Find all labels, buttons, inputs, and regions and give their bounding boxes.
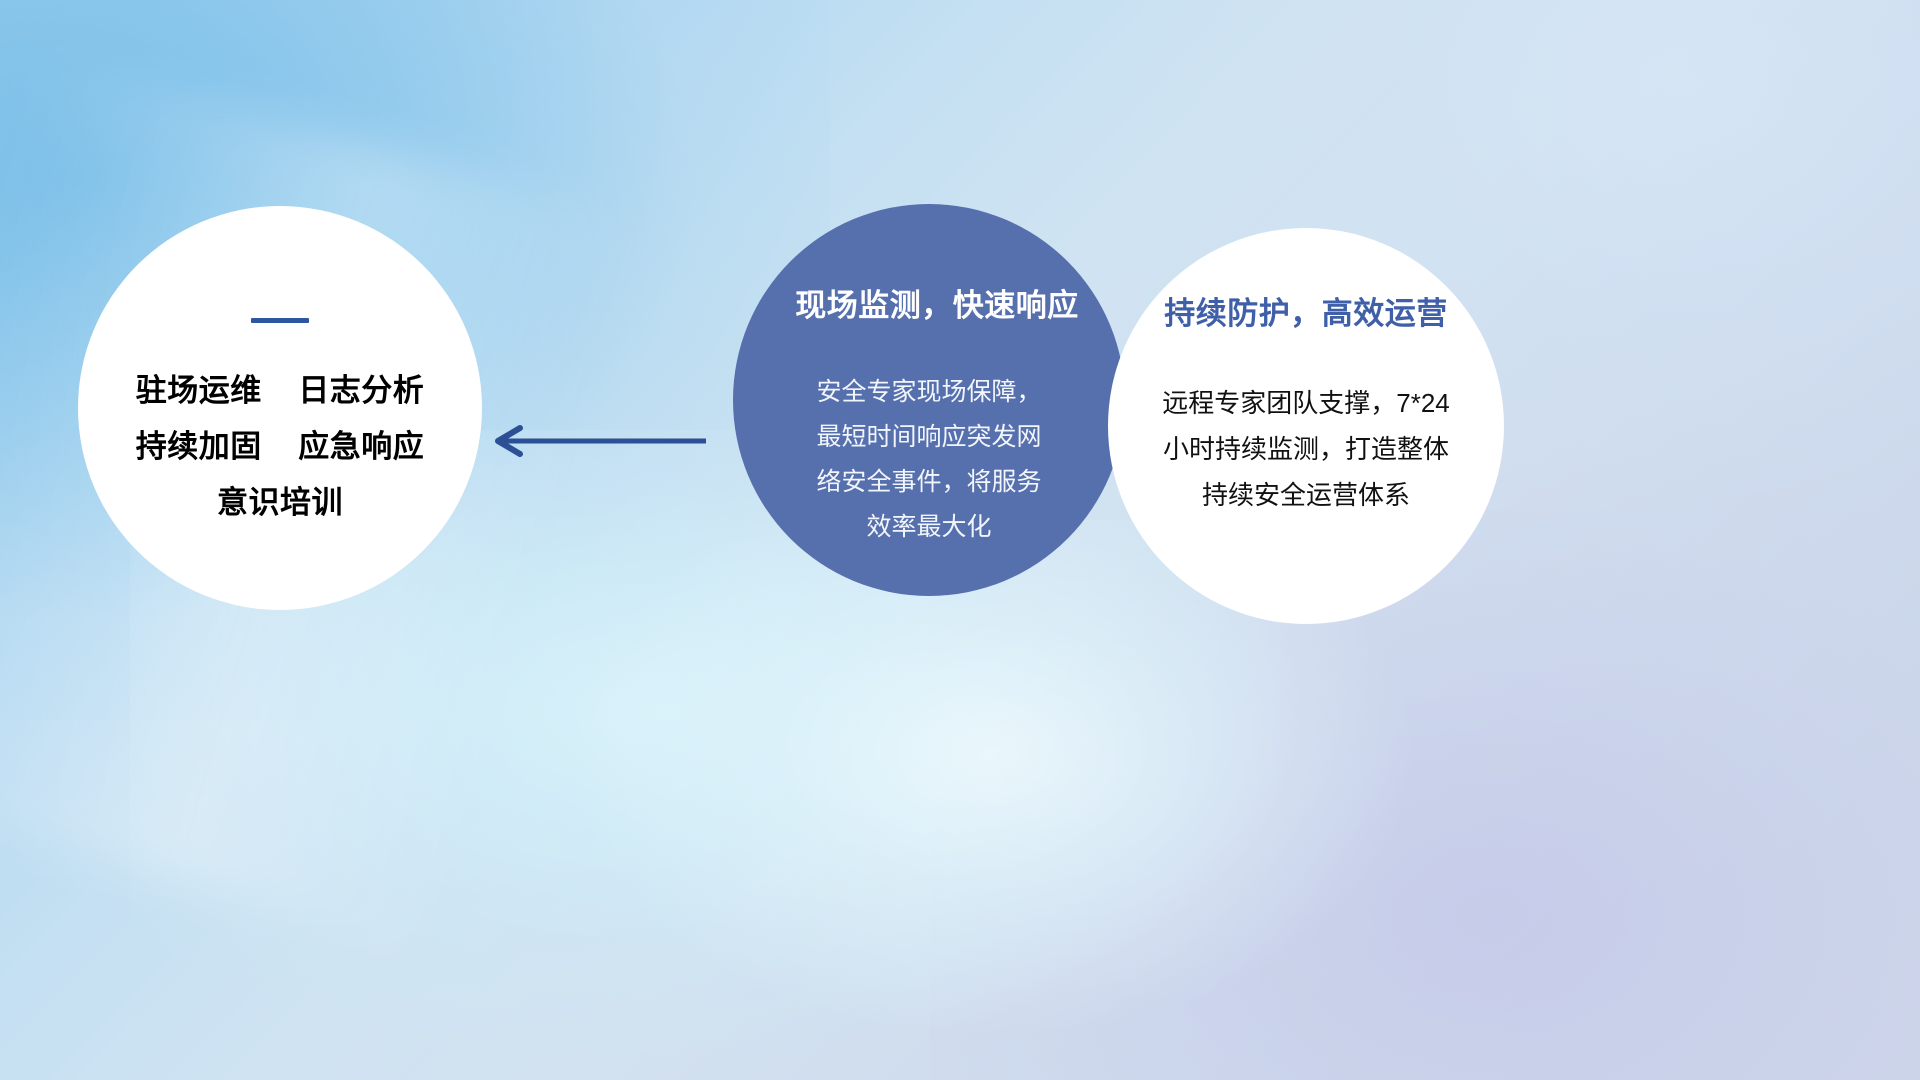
onsite-card-title: 现场监测，快速响应 <box>795 286 1079 326</box>
onsite-card-body: 安全专家现场保障， 最短时间响应突发网 络安全事件，将服务 效率最大化 <box>779 370 1079 550</box>
capabilities-circle: 驻场运维 日志分析 持续加固 应急响应 意识培训 <box>78 206 482 610</box>
onsite-body-line: 络安全事件，将服务 <box>779 460 1079 505</box>
capability-line: 持续加固 应急响应 <box>136 419 424 475</box>
remote-body-line: 持续安全运营体系 <box>1132 472 1480 518</box>
arrow-left-icon <box>492 424 708 458</box>
remote-body-line: 小时持续监测，打造整体 <box>1132 426 1480 472</box>
remote-card-title: 持续防护，高效运营 <box>1164 294 1448 334</box>
onsite-body-line: 最短时间响应突发网 <box>779 415 1079 460</box>
capabilities-list: 驻场运维 日志分析 持续加固 应急响应 意识培训 <box>136 363 424 531</box>
onsite-body-line: 效率最大化 <box>779 505 1079 550</box>
remote-body-line: 远程专家团队支撑，7*24 <box>1132 380 1480 426</box>
slide-canvas: 驻场运维 日志分析 持续加固 应急响应 意识培训 现场监测，快速响应 安全专家现… <box>0 0 1920 1080</box>
onsite-monitoring-circle: 现场监测，快速响应 安全专家现场保障， 最短时间响应突发网 络安全事件，将服务 … <box>733 204 1125 596</box>
remote-card-body: 远程专家团队支撑，7*24 小时持续监测，打造整体 持续安全运营体系 <box>1132 380 1480 518</box>
capability-line: 意识培训 <box>136 475 424 531</box>
onsite-body-line: 安全专家现场保障， <box>779 370 1079 415</box>
capability-line: 驻场运维 日志分析 <box>136 363 424 419</box>
divider-dash <box>251 318 309 323</box>
remote-operations-circle: 持续防护，高效运营 远程专家团队支撑，7*24 小时持续监测，打造整体 持续安全… <box>1108 228 1504 624</box>
